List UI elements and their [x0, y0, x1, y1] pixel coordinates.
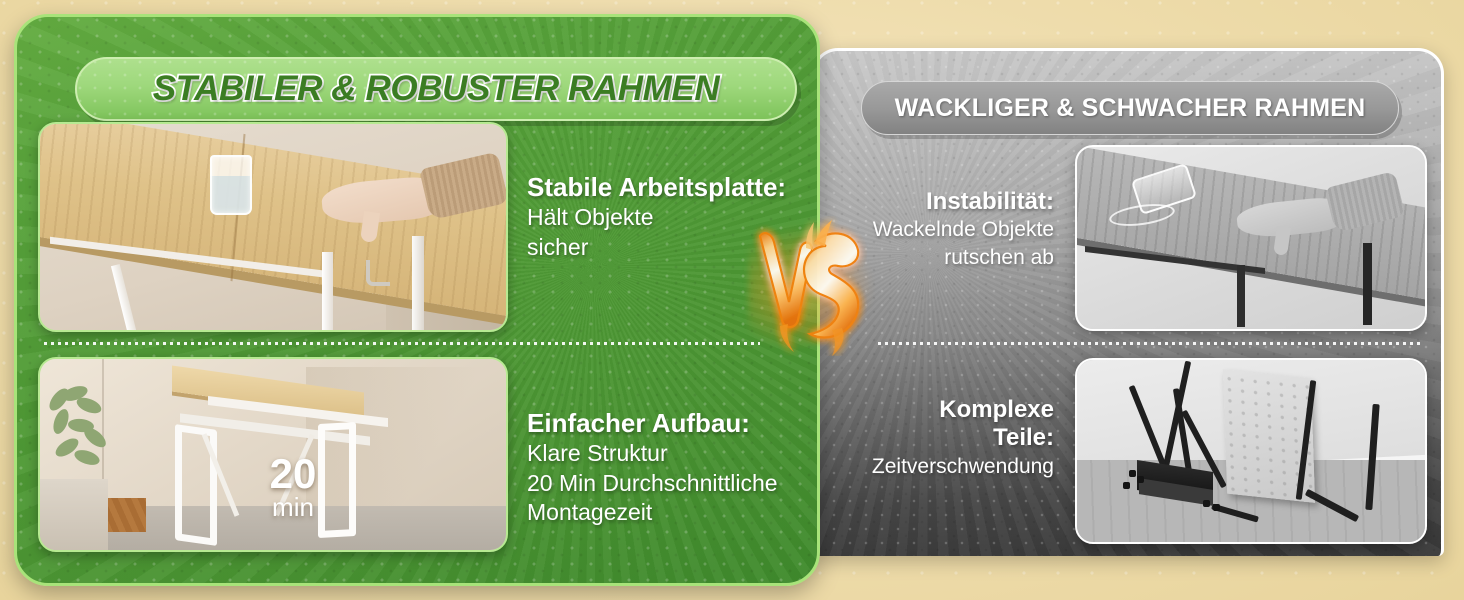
photo-scattered-disassembled-parts	[1075, 358, 1427, 544]
bad-panel-divider	[878, 342, 1424, 345]
bad-panel-header-pill: WACKLIGER & SCHWACHER RAHMEN	[861, 81, 1399, 135]
photo1-side-hook	[366, 260, 390, 286]
photo4-screw-3	[1123, 482, 1130, 489]
bad-feature-1-text: Instabilität: Wackelnde Objekte rutschen…	[842, 188, 1054, 271]
bad-feature-1-heading: Instabilität:	[842, 188, 1054, 216]
bad-feature-2-body: Zeitverschwendung	[842, 453, 1054, 480]
photo3-leg-right	[1363, 243, 1372, 325]
bad-feature-2-text: Komplexe Teile: Zeitverschwendung	[842, 396, 1054, 480]
good-feature-1-heading: Stabile Arbeitsplatte:	[527, 172, 797, 203]
good-panel-header-pill: STABILER & ROBUSTER RAHMEN	[75, 57, 797, 121]
photo-desk-assembly-room: 20 min	[38, 357, 508, 552]
photo1-leg-center	[322, 252, 333, 332]
photo1-water-glass	[210, 155, 252, 215]
good-feature-1-body: Hält Objekte sicher	[527, 203, 797, 263]
photo4-screw-1	[1129, 470, 1136, 477]
photo4-screw-2	[1137, 476, 1144, 483]
assembly-time-number: 20	[238, 453, 348, 494]
good-feature-1-text: Stabile Arbeitsplatte: Hält Objekte sich…	[527, 172, 797, 262]
good-feature-2-body: Klare Struktur 20 Min Durchschnittliche …	[527, 439, 802, 529]
photo4-screw-5	[1213, 504, 1220, 511]
assembly-time-unit: min	[238, 494, 348, 520]
good-feature-2-heading: Einfacher Aufbau:	[527, 408, 802, 439]
bad-feature-2-heading: Komplexe Teile:	[842, 396, 1054, 453]
photo2-plant	[42, 385, 110, 495]
photo-wobbly-table-spilled-glass	[1075, 145, 1427, 331]
photo4-screw-4	[1203, 500, 1210, 507]
photo1-leg-right	[412, 236, 424, 332]
good-panel-divider	[44, 342, 760, 345]
bad-panel-header-text: WACKLIGER & SCHWACHER RAHMEN	[895, 94, 1366, 123]
bad-feature-1-body: Wackelnde Objekte rutschen ab	[842, 216, 1054, 271]
photo3-leg-left	[1237, 265, 1245, 327]
good-panel-header-text: STABILER & ROBUSTER RAHMEN	[153, 69, 719, 109]
assembly-time-overlay: 20 min	[238, 453, 348, 520]
photo2-leg-frame-left	[175, 424, 217, 546]
photo-wooden-desk-with-glass-and-hand	[38, 122, 508, 332]
good-feature-2-text: Einfacher Aufbau: Klare Struktur 20 Min …	[527, 408, 802, 528]
